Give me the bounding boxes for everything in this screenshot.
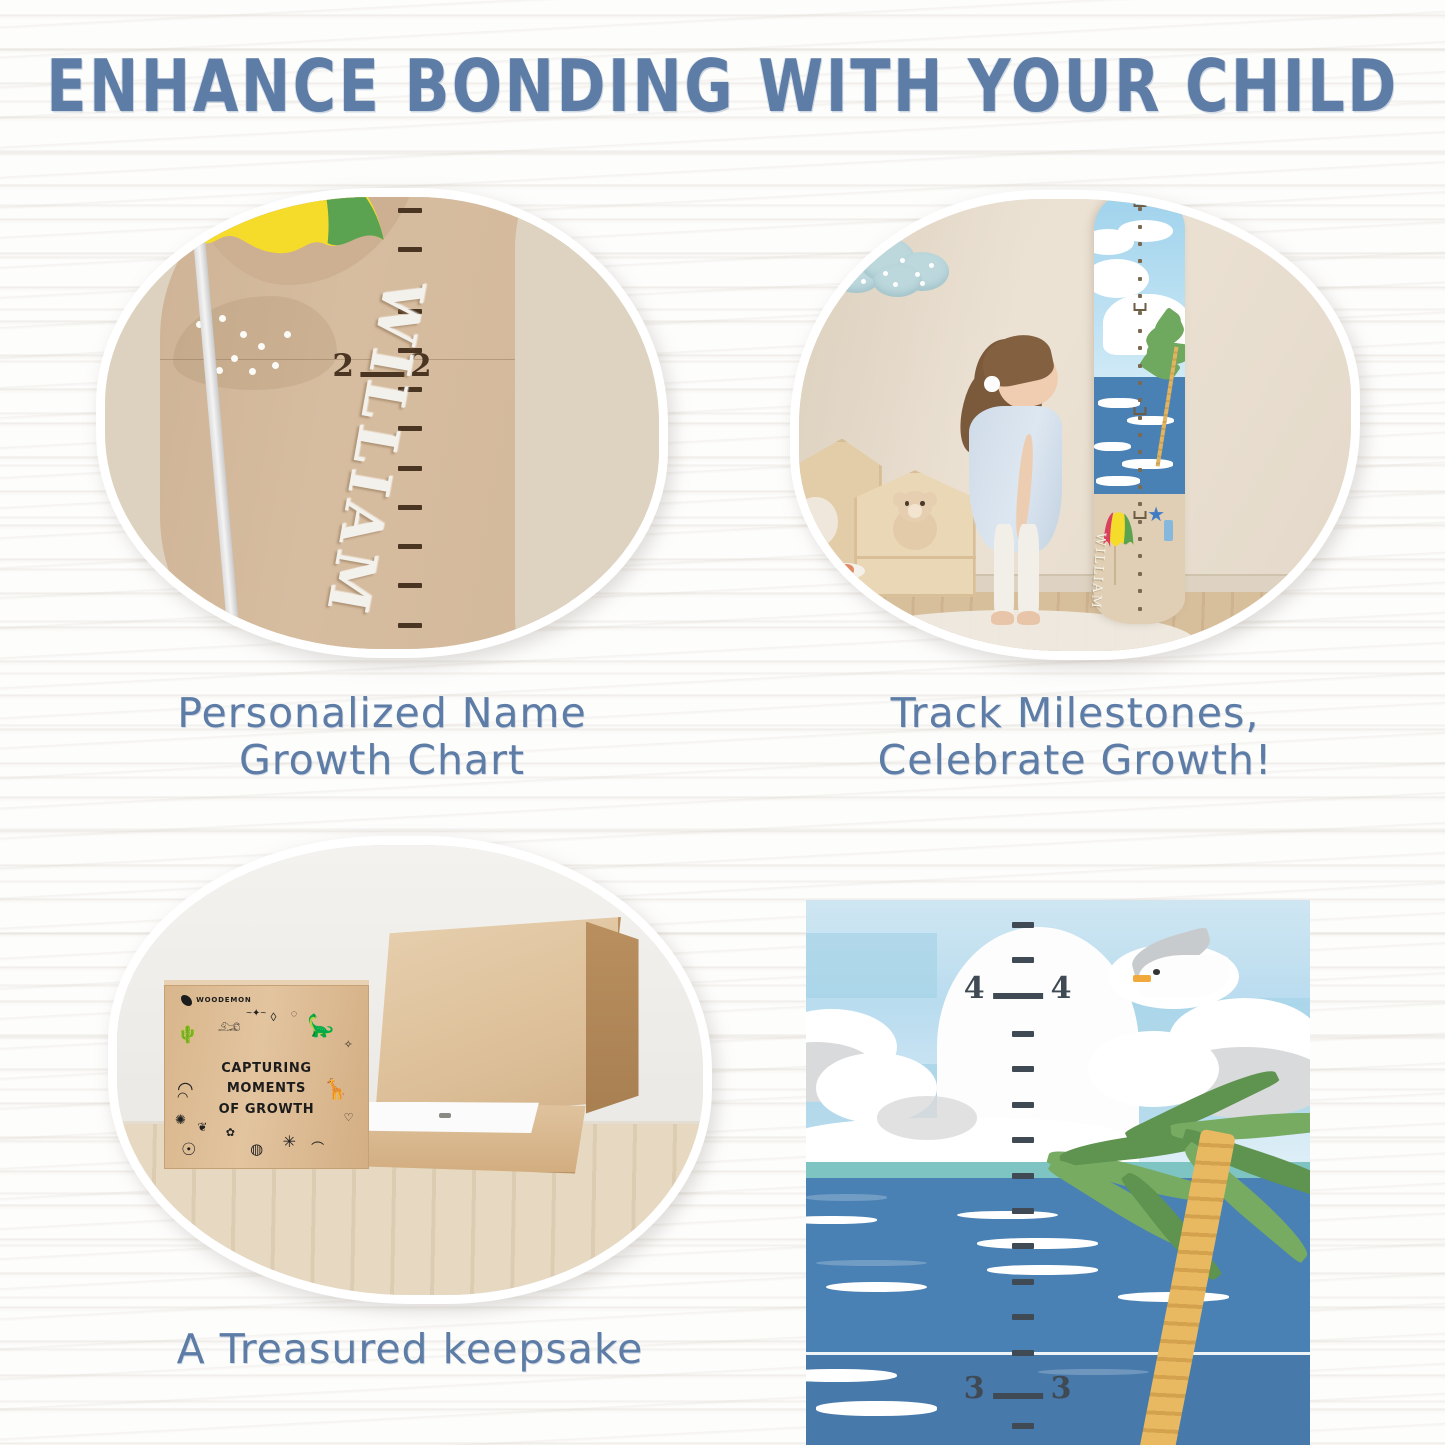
ruler-tick [398,505,422,510]
ruler-mark-bar [993,993,1043,999]
panel-packaging: WOODEMON 🌵 𓃭 ~✦~ ◊ ◌ 🦕 ◠ ◠ ✺ ❦ 🦒 ☉ ◍ ✳ ⌒… [108,836,712,1304]
ruler-mark-left: 4 [964,971,985,1006]
girl-foot-right [1017,611,1040,625]
box-lid-side [586,922,639,1120]
kraft-box-icon: WOODEMON 🌵 𓃭 ~✦~ ◊ ◌ 🦕 ◠ ◠ ✺ ❦ 🦒 ☉ ◍ ✳ ⌒… [164,985,369,1170]
panel-2-image: ★ WILLIAM [799,199,1351,651]
caption-line: Track Milestones, [790,690,1360,737]
doodle-toucan-icon: ☉ [181,1141,196,1158]
doodle-bird-icon: ~✦~ [246,1009,266,1019]
dalmatian-plush-icon [799,579,865,615]
caption-line: Growth Chart [96,737,668,784]
cloud-icon [877,1096,978,1140]
caption-line: Celebrate Growth! [790,737,1360,784]
girl-leg-left [994,524,1015,619]
teddy-bear-icon [885,491,946,559]
caption-panel-2: Track Milestones, Celebrate Growth! [790,690,1360,783]
open-box-lid-icon [375,917,621,1120]
doodle-pineapple-icon: ◊ [270,1011,276,1023]
doodle-cactus-icon: 🌵 [177,1026,198,1043]
seagull-body [1139,955,1230,999]
page-headline: ENHANCE BONDING WITH YOUR CHILD [0,44,1445,128]
caption-panel-1: Personalized Name Growth Chart [96,690,668,783]
ruler-mark-right: 4 [1051,971,1072,1006]
beach-umbrella-icon [1103,511,1134,550]
panel-1-blob-frame: 2 2 WILLIAM [96,188,668,658]
slogan-line: OF GROWTH [165,1100,368,1121]
brand-name: WOODEMON [196,996,251,1004]
doodle-cloud-icon: ◌ [291,1009,298,1020]
doodle-leaf-icon: ❦ [197,1121,207,1133]
ruler-tick [398,544,422,549]
girl-leg-right [1018,524,1039,619]
bucket-icon [1164,520,1173,542]
seagull-icon [1139,955,1230,999]
ruler-mark-right: 3 [1051,1371,1072,1406]
panel-room-scene: ★ WILLIAM [790,190,1360,660]
panel-3-blob-frame: WOODEMON 🌵 𓃭 ~✦~ ◊ ◌ 🦕 ◠ ◠ ✺ ❦ 🦒 ☉ ◍ ✳ ⌒… [108,836,712,1304]
ruler-mark-3: 3 3 [964,1371,1072,1406]
ruler-tick [398,623,422,628]
box-slogan: CAPTURING MOMENTS OF GROWTH [165,1059,368,1121]
doodle-mushroom-icon: ⌒ [311,1142,324,1155]
cloud-icon [832,235,953,298]
doodle-flower-icon: ✿ [226,1128,235,1139]
sky-band [806,933,937,998]
ruler-mark-bar [993,1393,1043,1399]
ruler-tick [398,208,422,213]
white-plush-toy [793,497,837,547]
doodle-star-icon: ✧ [344,1040,353,1051]
doodle-dinosaur-icon: 🦕 [307,1015,334,1037]
cloud-icon [1118,220,1173,242]
panel-3-image: WOODEMON 🌵 𓃭 ~✦~ ◊ ◌ 🦕 ◠ ◠ ✺ ❦ 🦒 ☉ ◍ ✳ ⌒… [117,845,703,1295]
panel-2-blob-frame: ★ WILLIAM [790,190,1360,660]
ruler-mark-left: 3 [964,1371,985,1406]
surfboard-growth-chart: ★ [1094,190,1185,624]
slogan-line: CAPTURING [165,1059,368,1080]
panel-1-image: 2 2 WILLIAM [105,197,659,649]
beach-umbrella-icon [155,188,388,269]
logo-mark [181,995,192,1006]
girl-measuring-height [965,339,1086,619]
woodemon-logo-icon: WOODEMON [181,995,251,1006]
ruler-mark-left: 2 [332,348,354,384]
seagull-beak [1133,975,1151,982]
ruler-tick [398,583,422,588]
caption-line: A Treasured keepsake [108,1326,712,1373]
panel-chart-closeup: 4 4 3 3 [806,900,1310,1445]
ruler-mark-4: 4 4 [964,971,1072,1006]
doodle-owl-icon: ◍ [250,1142,263,1157]
girl-hair-tie [984,376,1000,393]
slogan-line: MOMENTS [165,1079,368,1100]
umbrella-pole [1114,546,1116,585]
caption-panel-3: A Treasured keepsake [108,1326,712,1373]
starfish-icon: ★ [1147,502,1165,527]
girl-foot-left [991,611,1014,625]
paper-tab [439,1113,451,1118]
doodle-lion-icon: 𓃭 [218,1017,241,1034]
doodle-palm-icon: ✳ [283,1135,296,1151]
ruler-tick [398,247,422,252]
panel-name-closeup: 2 2 WILLIAM [96,188,668,658]
wood-board-right-edge [515,188,668,658]
caption-line: Personalized Name [96,690,668,737]
